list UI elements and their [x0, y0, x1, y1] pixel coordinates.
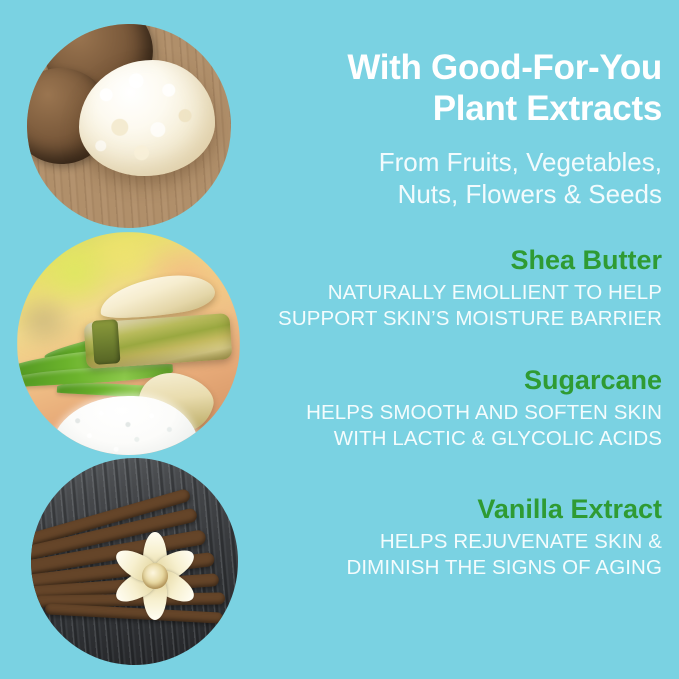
headline-line-1: With Good-For-You [262, 48, 662, 89]
ingredient-description: NATURALLY EMOLLIENT TO HELP SUPPORT SKIN… [262, 280, 662, 331]
ingredient-name: Vanilla Extract [262, 494, 662, 525]
ingredient-block-shea-butter: Shea Butter NATURALLY EMOLLIENT TO HELP … [262, 245, 662, 331]
vanilla-flower-icon [109, 530, 201, 622]
flower-center [142, 563, 168, 589]
ingredient-name: Shea Butter [262, 245, 662, 276]
ingredient-description: HELPS REJUVENATE SKIN & DIMINISH THE SIG… [262, 529, 662, 580]
headline-line-2: Plant Extracts [262, 89, 662, 130]
ingredient-block-vanilla-extract: Vanilla Extract HELPS REJUVENATE SKIN & … [262, 494, 662, 580]
subtitle-line-2: Nuts, Flowers & Seeds [262, 178, 662, 210]
ingredient-description-line-1: HELPS SMOOTH AND SOFTEN SKIN [262, 400, 662, 426]
ingredient-description-line-1: NATURALLY EMOLLIENT TO HELP [262, 280, 662, 306]
ingredient-block-sugarcane: Sugarcane HELPS SMOOTH AND SOFTEN SKIN W… [262, 365, 662, 451]
page-title: With Good-For-You Plant Extracts [262, 48, 662, 129]
ingredient-description-line-1: HELPS REJUVENATE SKIN & [262, 529, 662, 555]
text-column: With Good-For-You Plant Extracts From Fr… [262, 0, 662, 679]
ingredient-name: Sugarcane [262, 365, 662, 396]
ingredient-description-line-2: SUPPORT SKIN’S MOISTURE BARRIER [262, 306, 662, 332]
ingredient-description-line-2: DIMINISH THE SIGNS OF AGING [262, 555, 662, 581]
vanilla-photo [31, 458, 238, 665]
shea-butter-photo [27, 24, 231, 228]
ingredient-description: HELPS SMOOTH AND SOFTEN SKIN WITH LACTIC… [262, 400, 662, 451]
page-subtitle: From Fruits, Vegetables, Nuts, Flowers &… [262, 146, 662, 210]
plant-extracts-infographic: With Good-For-You Plant Extracts From Fr… [0, 0, 679, 679]
ingredient-description-line-2: WITH LACTIC & GLYCOLIC ACIDS [262, 426, 662, 452]
sugarcane-photo [17, 232, 240, 455]
subtitle-line-1: From Fruits, Vegetables, [262, 146, 662, 178]
sugarcane-node [91, 319, 120, 365]
